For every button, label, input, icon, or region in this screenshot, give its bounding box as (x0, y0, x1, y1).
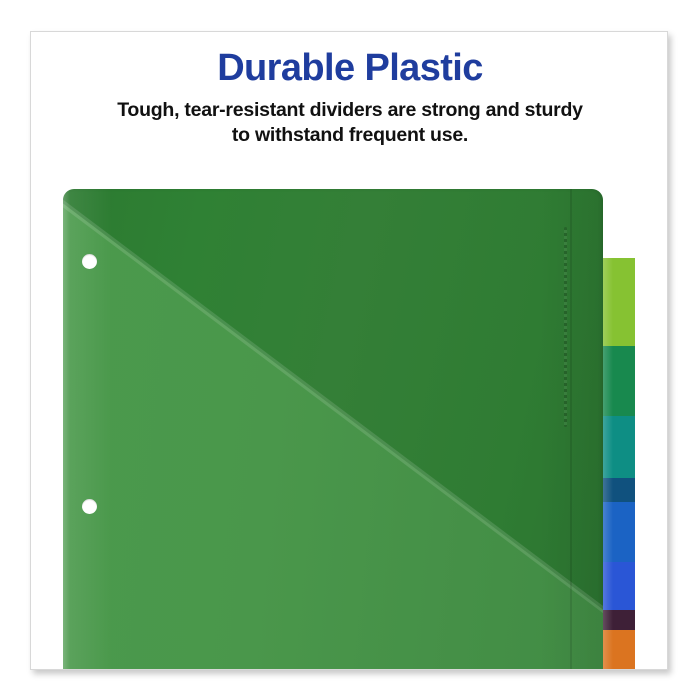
screenshot-root: Durable Plastic Tough, tear-resistant di… (0, 0, 700, 700)
punch-hole-top (82, 254, 97, 269)
tab-2-dark-green (603, 346, 635, 416)
tab-8-orange (603, 630, 635, 670)
tab-5-blue (603, 502, 635, 562)
tab-1-light-green (603, 258, 635, 346)
divider-sheet (63, 189, 603, 670)
pocket-seam-stitching (564, 227, 567, 427)
tab-7-plum (603, 610, 635, 630)
tab-6-royal-blue (603, 562, 635, 610)
product-image-card: Durable Plastic Tough, tear-resistant di… (30, 31, 668, 670)
punch-hole-bottom (82, 499, 97, 514)
sheet-fold-line (570, 189, 572, 670)
index-tab-strip (603, 226, 635, 670)
product-photo (31, 32, 668, 670)
tab-4-dark-teal (603, 478, 635, 502)
tab-3-teal (603, 416, 635, 478)
